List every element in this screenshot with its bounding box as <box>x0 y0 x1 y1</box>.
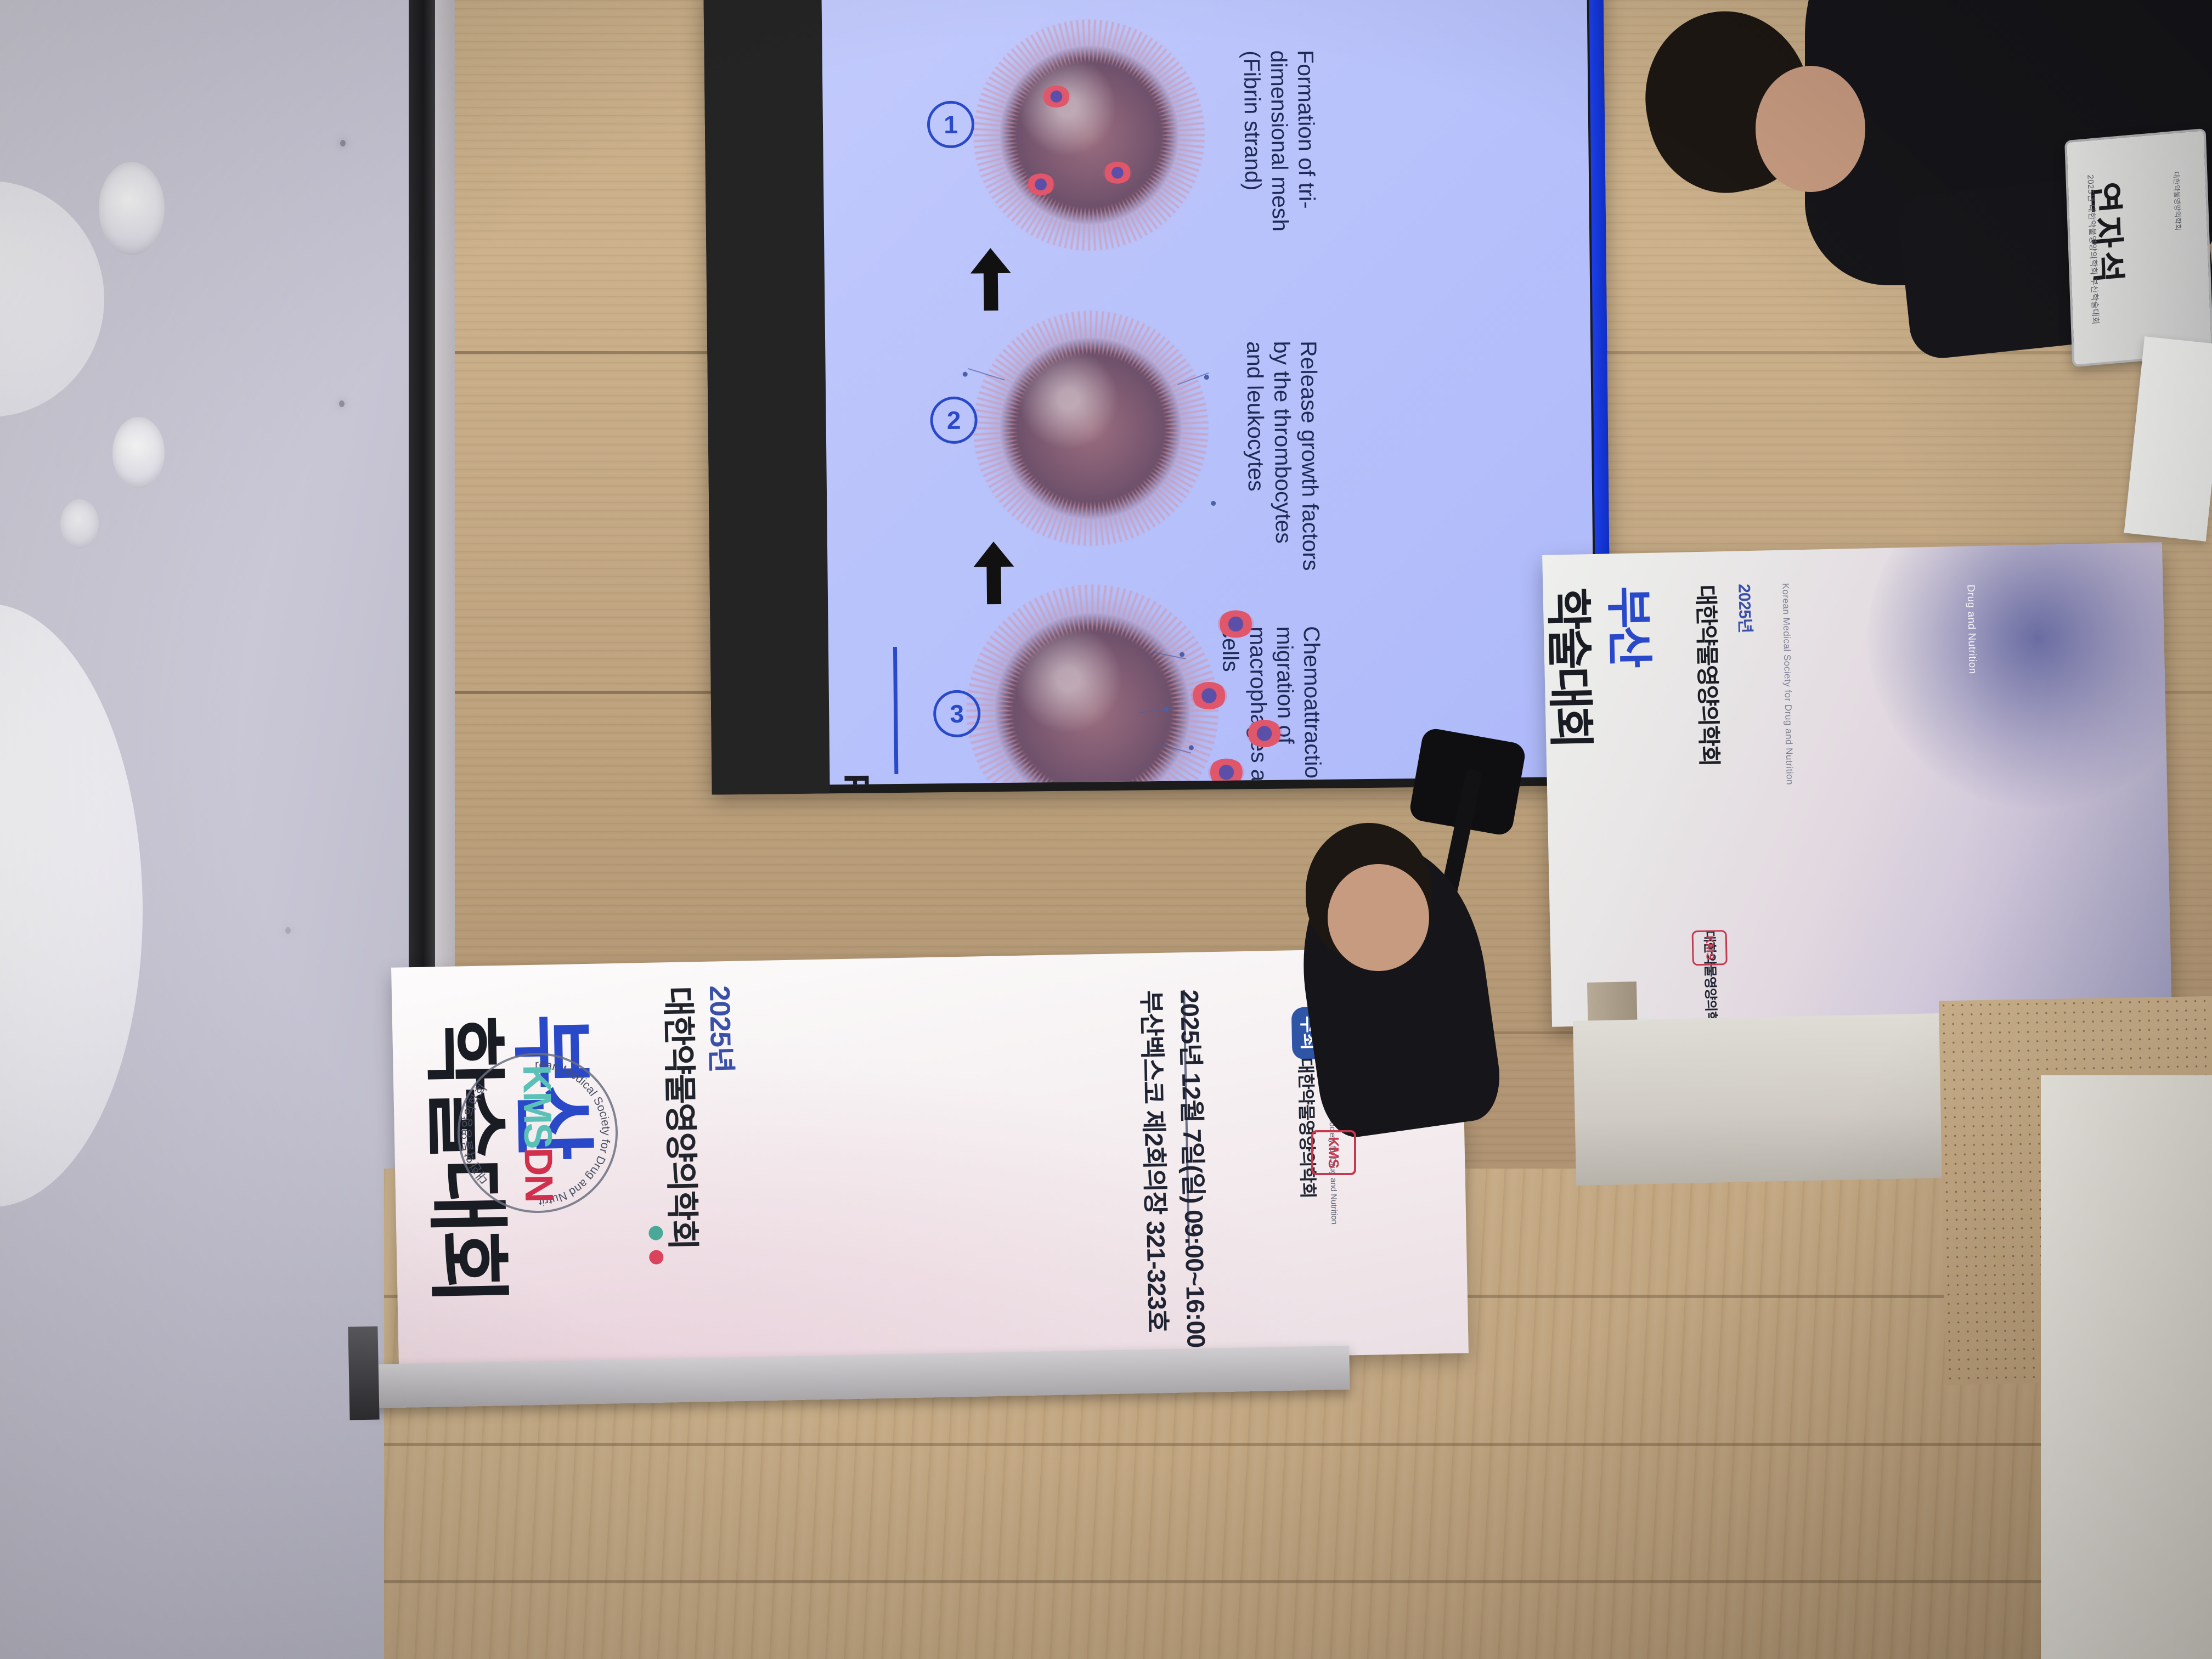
fibrin-blob-2 <box>998 336 1183 521</box>
podium-year: 2025년 <box>1734 584 1759 633</box>
ceiling-speck <box>285 927 291 934</box>
step-number-1: 1 <box>927 100 975 148</box>
slide-accent-bar <box>893 647 898 774</box>
podium-city: 부산 <box>1598 585 1666 666</box>
step-number-2: 2 <box>930 396 978 444</box>
downlight-icon <box>60 499 99 549</box>
floor-seam <box>384 1443 2212 1446</box>
podium-english-side: Korean Medical Society for Drug and Nutr… <box>1780 583 1795 785</box>
step-caption-2: Release growth factors by the thrombocyt… <box>1241 341 1324 572</box>
downlight-icon <box>112 417 165 488</box>
podium-title: 학술대회 <box>1542 587 1607 747</box>
banner-datetime: 2025년 12월 7일(일) 09:00~16:00 <box>1173 989 1216 1348</box>
ceiling-oval-light-b <box>0 603 143 1207</box>
banner-organization: 대한약물영양의학회 <box>657 986 709 1249</box>
side-desk <box>2041 1075 2212 1659</box>
lectern-panel: 대한약물영양의학회 2025년 부산 학술대회 Korean Medical S… <box>1542 542 2172 1026</box>
nameplate-side-note: 대한약물영양의학회 <box>2171 171 2184 231</box>
speaker-nameplate: 연자석 2025년 대한약물영양의학회 부산학술대회 대한약물영양의학회 <box>2064 128 2212 367</box>
floor-seam <box>384 1580 2212 1583</box>
attendee-face <box>1328 864 1429 971</box>
banner-year: 2025년 <box>702 985 744 1073</box>
downlight-icon <box>99 162 165 255</box>
banner-end-cap <box>348 1326 379 1420</box>
podium-english-bottom: Drug and Nutrition <box>1964 584 1978 674</box>
step-caption-1: Formation of tri- dimensional mesh (Fibr… <box>1238 50 1321 232</box>
macrophage-icon <box>1208 758 1245 785</box>
ceiling-speck <box>339 400 345 407</box>
step-number-3: 3 <box>933 690 981 737</box>
conference-room-photo: PRF(platelet-rich fibrin)의 Action 1 Form… <box>0 0 2212 1659</box>
podium-organization: 대한약물영양의학회 <box>1690 584 1728 766</box>
logo-acronym-kms: KMS <box>515 1064 560 1148</box>
screen-bezel <box>703 0 830 795</box>
slide-title: PRF(platelet-rich fibrin)의 Action <box>834 773 890 785</box>
kmsdn-logo: Korean Medical Society for Drug and Nutr… <box>448 1043 627 1222</box>
projection-screen: PRF(platelet-rich fibrin)의 Action 1 Form… <box>703 0 1611 795</box>
banner-venue: 부산벡스코 제2회의장 321-323호 <box>1135 990 1177 1333</box>
logo-arc-korean: 대한약물영양의학회 <box>459 1081 491 1187</box>
logo-acronym: KMSDN <box>514 1064 561 1201</box>
logo-acronym-dn: DN <box>516 1147 561 1201</box>
arrow-up-icon <box>984 270 998 311</box>
society-mark-icon: KMS <box>1311 1130 1356 1175</box>
fibrin-blob-1 <box>997 44 1180 227</box>
society-mark-icon: KMS <box>1692 930 1728 966</box>
fibrin-blob-3 <box>992 611 1192 785</box>
svg-text:대한약물영양의학회: 대한약물영양의학회 <box>459 1081 491 1187</box>
ceiling-speck <box>340 140 346 146</box>
presentation-slide: PRF(platelet-rich fibrin)의 Action 1 Form… <box>821 0 1595 785</box>
ceiling-oval-light-a <box>0 181 104 417</box>
arrow-up-icon <box>986 563 1001 604</box>
person-face <box>1756 66 1865 192</box>
